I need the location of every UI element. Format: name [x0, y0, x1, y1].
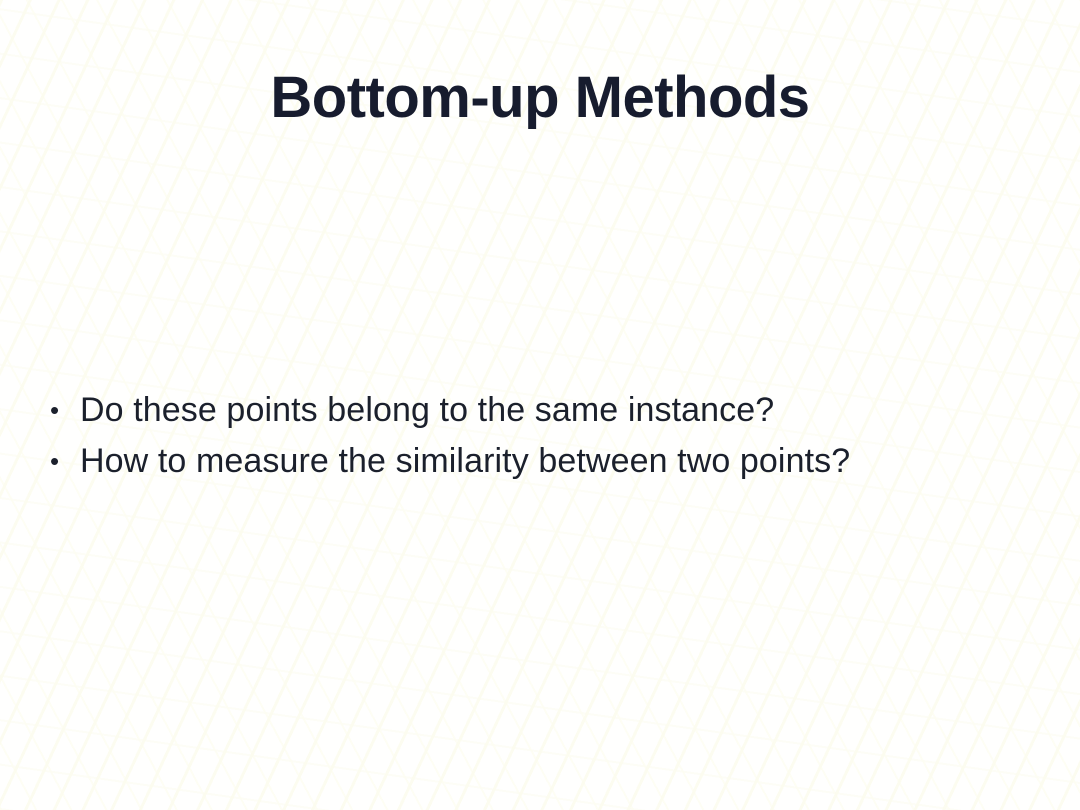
- bullet-item-label: Do these points belong to the same insta…: [80, 385, 774, 436]
- presentation-slide: Bottom-up Methods • Do these points belo…: [0, 0, 1080, 810]
- bullet-list: • Do these points belong to the same ins…: [50, 385, 1040, 487]
- list-item: • How to measure the similarity between …: [50, 436, 1040, 487]
- bullet-point-icon: •: [50, 436, 80, 487]
- page-title: Bottom-up Methods: [0, 66, 1080, 130]
- bullet-point-icon: •: [50, 385, 80, 436]
- bullet-item-label: How to measure the similarity between tw…: [80, 436, 850, 487]
- list-item: • Do these points belong to the same ins…: [50, 385, 1040, 436]
